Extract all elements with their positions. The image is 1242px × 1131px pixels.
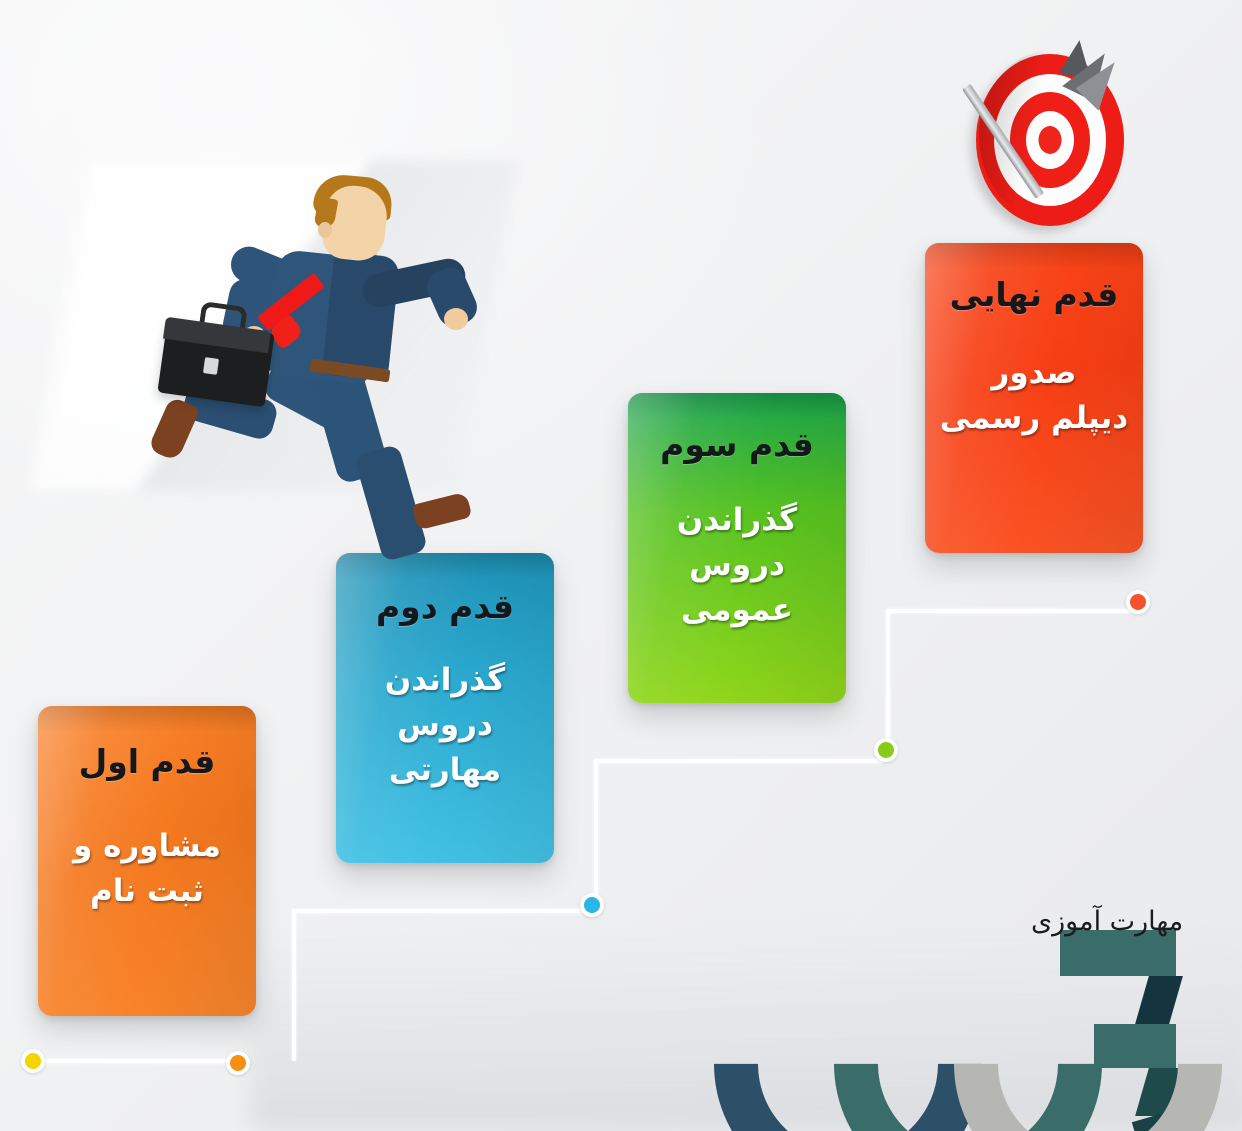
- card-curl-tab-icon: [1137, 249, 1189, 309]
- card-curl-tab-icon: [250, 712, 302, 772]
- step-card-1[interactable]: قدم اول مشاوره و ثبت نام: [38, 706, 256, 1016]
- card-curl-tab-icon: [548, 559, 600, 619]
- target-dart-bullseye-icon: [975, 42, 1125, 238]
- connector-path-step3-to-step4: [872, 590, 1172, 770]
- connector-path-step2-to-step3: [580, 740, 900, 920]
- connector-dot-step2: [580, 893, 604, 917]
- connector-segment: [886, 609, 890, 759]
- step-card-4-body: صدور دیپلم رسمی: [925, 351, 1143, 441]
- step-card-1-body: مشاوره و ثبت نام: [38, 824, 256, 914]
- step-card-2[interactable]: قدم دوم گذراندن دروس مهارتی: [336, 553, 554, 863]
- step-card-4[interactable]: قدم نهایی صدور دیپلم رسمی: [925, 243, 1143, 553]
- step-card-4-title: قدم نهایی: [925, 275, 1143, 314]
- card-top-shading: [628, 393, 846, 419]
- connector-segment: [886, 609, 1144, 613]
- running-businessman-icon: [146, 168, 476, 540]
- step-card-3-body: گذراندن دروس عمومی: [628, 498, 846, 633]
- card-curl-tab-icon: [840, 399, 892, 459]
- connector-segment: [594, 759, 598, 907]
- step-card-1-title: قدم اول: [38, 742, 256, 781]
- card-top-shading: [925, 243, 1143, 269]
- connector-dot-step4: [1126, 590, 1150, 614]
- card-top-shading: [38, 706, 256, 732]
- connector-segment: [292, 909, 592, 913]
- connector-dot-step3: [874, 738, 898, 762]
- step-card-2-body: گذراندن دروس مهارتی: [336, 658, 554, 793]
- connector-segment: [594, 759, 884, 763]
- step-card-3[interactable]: قدم سوم گذراندن دروس عمومی: [628, 393, 846, 703]
- card-top-shading: [336, 553, 554, 579]
- connector-segment: [28, 1059, 238, 1063]
- connector-dot-step1: [226, 1051, 250, 1075]
- step-card-2-title: قدم دوم: [336, 587, 554, 626]
- infographic-canvas: قدم اول مشاوره و ثبت نام قدم دوم گذراندن…: [0, 0, 1242, 1131]
- brand-logo-icon: [706, 930, 1176, 1065]
- step-card-3-title: قدم سوم: [628, 425, 846, 464]
- brand-name-label: مهارت آموزی: [1031, 906, 1183, 937]
- connector-dot-start: [21, 1049, 45, 1073]
